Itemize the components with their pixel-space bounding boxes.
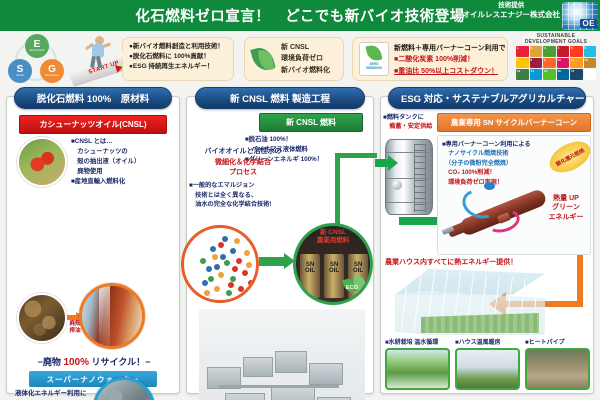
sdgs-goal-number: 13: [517, 69, 520, 73]
burner-description: ■専用バーナーコーン利用による ナノサイクル燃焼技術 （分子の微粉完全燃焼） C…: [442, 140, 552, 187]
molecule-atom: [202, 280, 208, 286]
molecule-atom: [210, 246, 216, 252]
bubble2-line2: 環境負荷ゼロ: [281, 53, 330, 64]
molecule-atom: [222, 236, 228, 242]
sdgs-goal-number: 10: [558, 58, 561, 62]
fuel-drums-photo: 新 CNSL 農業用燃料 SNOIL SNOIL SNOIL ECO: [293, 223, 373, 305]
sdgs-goal-number: 7: [517, 58, 519, 62]
press-oil-arrow-icon: [67, 315, 77, 320]
recycle-headline: −廃物 100% リサイクル！−: [17, 355, 171, 368]
sdgs-goal-number: 8: [531, 58, 533, 62]
sdgs-goal-7: 7: [516, 58, 529, 69]
molecule-atom: [206, 266, 212, 272]
logo-text: OE: [580, 19, 597, 28]
sdgs-goal-3: 3: [543, 46, 556, 57]
molecule-atom: [242, 270, 248, 276]
molecule-atom: [238, 286, 244, 292]
molecule-atom: [230, 248, 236, 254]
zero-badge-leaf-icon: [365, 44, 382, 63]
drum-1-label: SNOIL: [301, 262, 319, 275]
sdgs-logo-block: SUSTAINABLE DEVELOPMENT GOALS 1234567891…: [516, 33, 596, 85]
esg-g-sub: Governance: [45, 75, 59, 78]
greenhouse-heater-photo: [455, 348, 520, 390]
molecule-atom: [212, 254, 218, 260]
sdgs-goal-2: 2: [530, 46, 543, 57]
heat-flow-arrow-vertical: [577, 255, 583, 307]
thumb-item-heatpipe: ■ヒートパイプ: [525, 337, 590, 391]
drum-2-label: SNOIL: [325, 262, 343, 275]
eco-badge-label: ECO: [346, 285, 358, 291]
bubble3-text: 新燃料＋専用バーナーコーン利用で ■二酸化炭素 100%削減！ ■重油比 50%…: [394, 43, 506, 76]
sdgs-goal-number: 3: [544, 46, 546, 50]
heat-pipe-photo: [525, 348, 590, 390]
energy-up-label: 熱量 UP グリーン エネルギー: [544, 194, 588, 222]
molecule-atom: [240, 294, 246, 300]
cnsl-label-bar: カシューナッツオイル(CNSL): [19, 115, 167, 134]
esg-node-environment: E Environment: [25, 34, 49, 58]
molecule-atom: [218, 242, 224, 248]
redox-combustion-badge: 酸化還元燃焼: [544, 135, 595, 179]
process-headline-2: プロセス: [191, 168, 295, 179]
company-name: オイルレスエナジー株式会社: [463, 10, 561, 19]
credit-label: 技術提供: [463, 2, 561, 10]
molecule-atom: [218, 272, 224, 278]
burner-section: ■専用バーナーコーン利用による ナノサイクル燃焼技術 （分子の微粉完全燃焼） C…: [437, 135, 591, 255]
molecule-atom: [204, 290, 210, 296]
bubble2-line1: 新 CNSL: [281, 42, 330, 53]
bubble1-line3: ●ESG 持続再生エネルギー！: [129, 62, 227, 72]
sdgs-goal-6: 6: [584, 46, 597, 57]
recycle-num: 100%: [63, 357, 89, 368]
molecule-atom: [208, 276, 214, 282]
eco-recycle-icon: ECO: [344, 276, 368, 296]
cnsl-bullet-0: ■CNSL とは…: [71, 137, 177, 147]
sdgs-goal-15: 15: [543, 69, 556, 80]
tank-knob-icon: [392, 180, 402, 190]
molecule-atom: [246, 262, 252, 268]
sdgs-goal-number: 18: [585, 69, 588, 73]
sdgs-goal-8: 8: [530, 58, 543, 69]
sdgs-goal-number: 16: [558, 69, 561, 73]
sdgs-goal-1: 1: [516, 46, 529, 57]
bubble2-text: 新 CNSL 環境負荷ゼロ 新バイオ燃料化: [281, 42, 330, 76]
burner-cone-bar: 農業専用 SN サイクルバーナーコーン: [437, 113, 591, 132]
application-thumbnails: ■水耕栽培 温水循環 ■ハウス温風暖房 ■ヒートパイプ: [385, 337, 591, 391]
sdgs-goal-number: 11: [571, 58, 574, 62]
molecule-diagram-photo: [181, 225, 259, 303]
sdgs-goal-number: 2: [531, 46, 533, 50]
process-desc-1: 技術とは全く異なる、: [189, 191, 301, 201]
molecule-atom: [236, 258, 242, 264]
cnsl-bullet-4: ■産地直輸入燃料化: [71, 177, 177, 187]
process-headline-1: 微細化＆化学結合: [191, 158, 295, 169]
liquid-energy-text: 液体化エネルギー利用に 全体の30%活性水！: [15, 389, 103, 400]
company-logo-icon: OE: [562, 2, 598, 30]
recycle-post: リサイクル！−: [89, 357, 150, 367]
sdgs-goal-9: 9: [543, 58, 556, 69]
plant-container-module: [275, 351, 307, 373]
sdgs-goal-14: 14: [530, 69, 543, 80]
green-pipe-vertical: [335, 153, 340, 225]
burner-desc-2: （分子の微粉完全燃焼）: [442, 159, 552, 168]
panel-feedstock-title: 脱化石燃料 100% 原材料: [14, 87, 172, 109]
liquid-line1: 液体化エネルギー利用に: [15, 389, 103, 399]
molecule-atom: [226, 290, 232, 296]
drums-caption: 新 CNSL 農業用燃料: [296, 229, 370, 245]
panel-esg-title: ESG 対応・サステナブルアグリカルチャー: [388, 87, 586, 109]
process-headline-0: バイオオイルと活性水の: [191, 147, 295, 158]
molecule-atom: [244, 250, 250, 256]
bubble1-line1: ●新バイオ燃料創造と利用技術！: [129, 42, 227, 52]
recycle-pre: −廃物: [38, 357, 64, 367]
energy-up-2: エネルギー: [544, 213, 588, 222]
molecule-atom: [200, 258, 206, 264]
molecule-atom: [234, 238, 240, 244]
startup-skateboard-illustration: START UP: [68, 33, 130, 87]
process-description: ■一般的なエマルジョン 技術とは全く異なる、 油水の完全な化学結合技術!: [189, 181, 301, 210]
blue-droplet-icon: [484, 182, 495, 190]
sdgs-goal-5: 5: [570, 46, 583, 57]
cashew-fruit-photo: [17, 137, 67, 187]
cnsl-oil-photo: [79, 283, 145, 349]
sdgs-goal-number: 17: [571, 69, 574, 73]
tank-label: ■燃料タンクに 備蓄・安定供給: [383, 113, 437, 132]
sdgs-goal-16: 16: [557, 69, 570, 80]
plant-container-module: [243, 357, 273, 377]
new-cnsl-fuel-bar: 新 CNSL 燃料: [259, 113, 363, 132]
sdgs-goal-number: 4: [558, 46, 560, 50]
esg-node-social: S Social: [8, 59, 32, 83]
sdgs-goal-number: 15: [544, 69, 547, 73]
burner-desc-3: CO₂ 100%削減！: [442, 168, 552, 177]
drums-caption-0: 新 CNSL: [296, 229, 370, 237]
bubble2-line3: 新バイオ燃料化: [281, 65, 330, 76]
molecule-atom: [228, 282, 234, 288]
thumb-item-heater: ■ハウス温風暖房: [455, 337, 520, 391]
process-desc-2: 油水の完全な化学結合技術!: [189, 200, 301, 210]
panel-esg: ESG 対応・サステナブルアグリカルチャー ■燃料タンクに 備蓄・安定供給 農業…: [380, 96, 594, 394]
hydroponics-photo: [385, 348, 450, 390]
burner-desc-0: ■専用バーナーコーン利用による: [442, 140, 552, 149]
molecule-atom: [214, 286, 220, 292]
energy-up-0: 熱量 UP: [544, 194, 588, 203]
sdgs-goal-4: 4: [557, 46, 570, 57]
plant-container-module: [225, 393, 265, 400]
sdgs-goal-number: 1: [517, 46, 519, 50]
plant-pipe-run: [219, 385, 339, 388]
drum-3-label: SNOIL: [349, 262, 367, 275]
leaf-icon: [251, 44, 277, 74]
cashew-shell-photo: [17, 293, 67, 343]
drum-1: SNOIL: [300, 254, 320, 298]
person-icon: [86, 36, 112, 68]
callout-bubble-cnsl: 新 CNSL 環境負荷ゼロ 新バイオ燃料化: [244, 37, 344, 81]
infographic-page: 化石燃料ゼロ宣言！ どこでも新バイオ技術登場 技術提供 オイルレスエナジー株式会…: [0, 0, 600, 400]
sdgs-goal-number: 14: [531, 69, 534, 73]
green-pipe-horizontal: [335, 153, 377, 158]
sdgs-goal-grid: 123456789101112131415161718: [516, 46, 596, 80]
fuel-inflow-arrow-icon: [375, 159, 389, 167]
esg-wheel-diagram: E Environment S Social G Governance: [6, 34, 68, 86]
molecule-atom: [224, 260, 230, 266]
cnsl-bullets: ■CNSL とは… カシューナッツの 殻の抽出液（オイル） 廃物使用 ■産地直輸…: [71, 137, 177, 187]
burner-desc-1: ナノサイクル燃焼技術: [442, 149, 552, 158]
process-desc-0: ■一般的なエマルジョン: [189, 181, 301, 191]
sdgs-goal-13: 13: [516, 69, 529, 80]
greenhouse-headline: 農業ハウス内すべてに熱エネルギー提供！: [385, 257, 545, 267]
sdgs-goal-10: 10: [557, 58, 570, 69]
thumb-item-hydroponics: ■水耕栽培 温水循環: [385, 337, 450, 391]
cnsl-bullet-2: 殻の抽出液（オイル）: [71, 157, 177, 167]
molecule-atom: [232, 266, 238, 272]
thumb-caption-0: ■水耕栽培 温水循環: [385, 337, 450, 346]
drums-caption-1: 農業用燃料: [296, 237, 370, 245]
sdgs-goal-11: 11: [570, 58, 583, 69]
tank-label-1: 備蓄・安定供給: [383, 122, 437, 131]
process-arrow-icon: [259, 257, 285, 266]
redox-badge-label: 酸化還元燃焼: [555, 147, 586, 168]
bubble1-line2: ●脱化石燃料に 100%貢献！: [129, 52, 227, 62]
drum-2: SNOIL: [324, 254, 344, 298]
bubble3-line1: 新燃料＋専用バーナーコーン利用で: [394, 43, 506, 53]
callout-bubble-benefits: ●新バイオ燃料創造と利用技術！ ●脱化石燃料に 100%貢献！ ●ESG 持続再…: [122, 37, 234, 81]
panel-feedstock: 脱化石燃料 100% 原材料 カシューナッツオイル(CNSL) ■CNSL とは…: [6, 96, 180, 394]
fuel-bullet-0: ■脱石油 100%！: [245, 135, 373, 145]
bubble3-line3: ■重油比 50%以上コストダウン！: [394, 66, 506, 76]
plant-container-module: [271, 387, 315, 400]
greenhouse-illustration: [395, 269, 545, 335]
energy-up-1: グリーン: [544, 203, 588, 212]
zero-badge-line2: EMISSION: [366, 66, 382, 70]
thumb-caption-2: ■ヒートパイプ: [525, 337, 590, 346]
molecule-atom: [220, 254, 226, 260]
cnsl-bullet-1: カシューナッツの: [71, 147, 177, 157]
production-plant-photo: [199, 309, 365, 400]
bubble3-line2: ■二酸化炭素 100%削減！: [394, 54, 506, 64]
esg-s-sub: Social: [16, 75, 23, 78]
panel-process-title: 新 CNSL 燃料 製造工程: [195, 87, 365, 109]
process-headline: バイオオイルと活性水の 微細化＆化学結合 プロセス: [191, 147, 295, 179]
page-header: 化石燃料ゼロ宣言！ どこでも新バイオ技術登場 技術提供 オイルレスエナジー株式会…: [0, 0, 600, 31]
zero-emission-icon: ZERO EMISSION: [359, 42, 389, 76]
sdgs-goal-number: 9: [544, 58, 546, 62]
callout-bubble-zero-emission: ZERO EMISSION 新燃料＋専用バーナーコーン利用で ■二酸化炭素 10…: [352, 37, 508, 81]
sdgs-goal-number: 6: [585, 46, 587, 50]
sdgs-goal-12: 12: [584, 58, 597, 69]
top-highlight-strip: E Environment S Social G Governance STAR…: [0, 31, 600, 87]
panel-process: 新 CNSL 燃料 製造工程 新 CNSL 燃料 ■脱石油 100%！ バイオマ…: [186, 96, 374, 394]
tank-ladder-icon: [414, 144, 426, 212]
molecule-atom: [214, 264, 220, 270]
molecule-atom: [248, 280, 254, 286]
tank-label-0: ■燃料タンクに: [383, 113, 437, 122]
thumb-caption-1: ■ハウス温風暖房: [455, 337, 520, 346]
sdgs-goal-number: 12: [585, 58, 588, 62]
cnsl-bullet-3: 廃物使用: [71, 167, 177, 177]
esg-e-sub: Environment: [30, 50, 45, 53]
fuel-tank-illustration: [385, 139, 433, 215]
sdgs-goal-number: 5: [571, 46, 573, 50]
esg-node-governance: G Governance: [40, 59, 64, 83]
plant-container-module: [309, 363, 343, 385]
sdgs-caption: SUSTAINABLE DEVELOPMENT GOALS: [516, 33, 596, 45]
technology-credit: 技術提供 オイルレスエナジー株式会社: [463, 2, 561, 20]
page-title: 化石燃料ゼロ宣言！ どこでも新バイオ技術登場: [135, 5, 465, 26]
sdgs-goal-17: 17: [570, 69, 583, 80]
sdgs-goal-18: 18: [584, 69, 597, 80]
